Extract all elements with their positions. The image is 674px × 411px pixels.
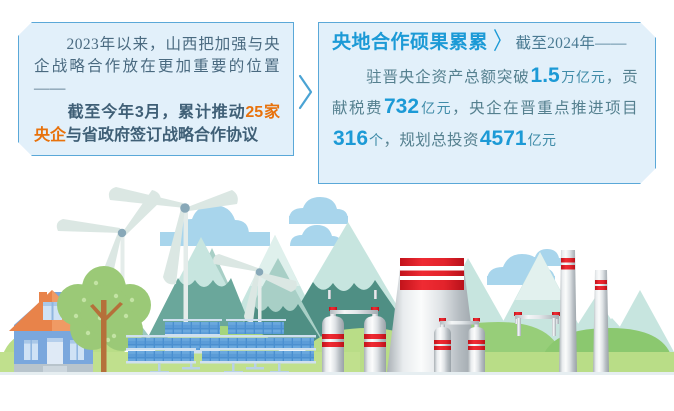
left-highlight-term: 央企 xyxy=(34,127,66,144)
smokestack xyxy=(593,270,609,372)
stat-value-investment: 4571 xyxy=(479,127,528,150)
right-panel-heading: 央地合作硕果累累〉截至2024年—— xyxy=(332,30,638,57)
stat-unit-projects: 个 xyxy=(369,132,383,148)
stat-unit-investment: 亿元 xyxy=(528,132,557,148)
stat-value-projects: 316 xyxy=(332,127,369,150)
smokestack xyxy=(559,250,577,372)
chevron-right-icon xyxy=(296,72,316,112)
cooling-tower xyxy=(387,258,477,372)
right-heading-tail: 截至2024年—— xyxy=(516,35,627,52)
right-panel-body: 驻晋央企资产总额突破1.5万亿元，贡献税费732亿元，央企在晋重点推进项目316… xyxy=(332,60,638,155)
stat-value-tax: 732 xyxy=(383,95,420,118)
left-panel-text: 2023年以来，山西把加强与央企战略合作放在更加重要的位置—— 截至今年3月，累… xyxy=(22,28,290,147)
stat-seg-3: ，央企在晋重点推进项目 xyxy=(452,100,638,117)
stat-unit-tax: 亿元 xyxy=(420,100,452,116)
left-p2-post: 与省政府签订战略合作协议 xyxy=(66,127,258,144)
left-p2-pre: 截至今年3月，累计推动 xyxy=(68,104,246,121)
left-highlight-count: 25家 xyxy=(245,104,280,121)
infographic-canvas: 2023年以来，山西把加强与央企战略合作放在更加重要的位置—— 截至今年3月，累… xyxy=(0,0,674,411)
left-paragraph-2: 截至今年3月，累计推动25家央企与省政府签订战略合作协议 xyxy=(34,102,280,147)
right-heading-label: 央地合作硕果累累 xyxy=(332,32,488,53)
ground-line xyxy=(0,372,674,375)
stat-value-assets: 1.5 xyxy=(530,64,561,87)
stat-seg-4: ，规划总投资 xyxy=(383,132,478,149)
right-panel-text: 央地合作硕果累累〉截至2024年—— 驻晋央企资产总额突破1.5万亿元，贡献税费… xyxy=(322,26,652,154)
left-paragraph-1: 2023年以来，山西把加强与央企战略合作放在更加重要的位置—— xyxy=(34,34,280,100)
heading-chevron-icon: 〉 xyxy=(493,27,513,61)
stat-seg-1: 驻晋央企资产总额突破 xyxy=(366,69,529,86)
stat-unit-assets: 万亿元 xyxy=(561,69,606,85)
